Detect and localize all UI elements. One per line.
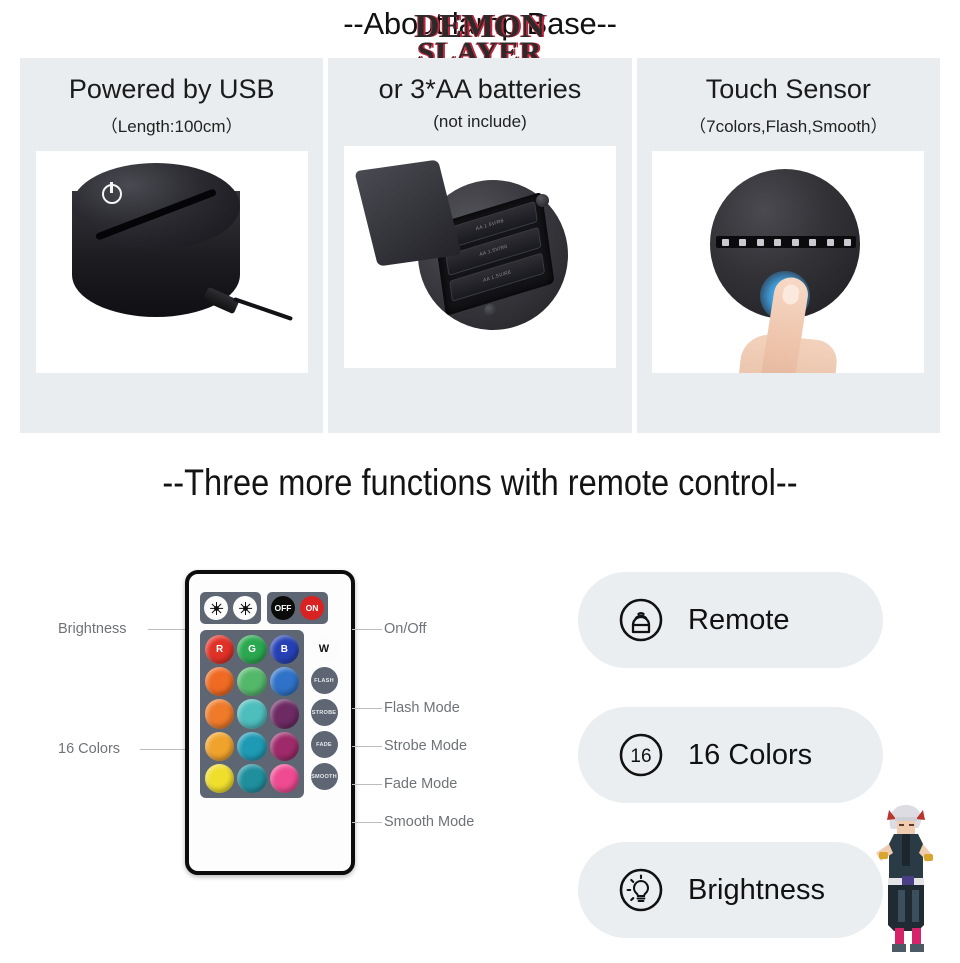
callout-on-off: On/Off [384, 621, 426, 637]
callout-flash-mode: Flash Mode [384, 700, 460, 716]
smooth-mode-button[interactable]: SMOOTH [311, 763, 338, 790]
power-button-group: OFF ON [267, 592, 328, 624]
feature-card-list: Remote 16 16 Colors Brightness [578, 572, 890, 942]
panel-touch-sensor: Touch Sensor （7colors,Flash,Smooth） [637, 58, 940, 433]
callout-leader-line [140, 749, 188, 750]
battery-compartment-photo: AA 1.5V/R6 AA 1.5V/R6 AA 1.5V/R6 [344, 146, 616, 368]
fade-mode-button[interactable]: FADE [311, 731, 338, 758]
color-button[interactable] [237, 667, 266, 696]
brightness-down-icon[interactable] [233, 596, 257, 620]
callout-leader-line [352, 746, 382, 747]
remote-signal-icon [618, 597, 664, 643]
callout-leader-line [352, 784, 382, 785]
led-icon [757, 239, 764, 246]
led-icon [722, 239, 729, 246]
feature-card-label: Remote [688, 604, 790, 637]
led-icon [844, 239, 851, 246]
led-icon [809, 239, 816, 246]
feature-card-brightness[interactable]: Brightness [578, 842, 883, 938]
color-button[interactable] [237, 764, 266, 793]
color-button[interactable] [270, 667, 299, 696]
color-button[interactable] [205, 667, 234, 696]
panel-subheading: （7colors,Flash,Smooth） [689, 112, 887, 137]
color-button[interactable] [205, 764, 234, 793]
panel-heading: Touch Sensor [706, 74, 871, 105]
color-button[interactable]: G [237, 635, 266, 664]
anime-character-watermark [858, 800, 954, 958]
color-button[interactable] [270, 699, 299, 728]
battery-lid [354, 160, 461, 267]
remote-control[interactable]: OFF ON R G B [185, 570, 355, 875]
brightness-up-icon[interactable] [204, 596, 228, 620]
strobe-mode-button[interactable]: STROBE [311, 699, 338, 726]
callout-leader-line [352, 708, 382, 709]
section-heading: --Three more functions with remote contr… [58, 462, 903, 504]
color-button-grid: R G B [200, 630, 304, 798]
sixteen-circle-icon: 16 [618, 732, 664, 778]
power-symbol-icon [102, 184, 122, 204]
callout-brightness: Brightness [58, 621, 127, 637]
panel-aa-batteries: or 3*AA batteries (not include) AA 1.5V/… [328, 58, 631, 433]
color-button[interactable] [237, 699, 266, 728]
color-button[interactable]: R [205, 635, 234, 664]
screw-icon [536, 194, 549, 207]
color-button[interactable] [205, 732, 234, 761]
remote-mode-column: W FLASH STROBE FADE SMOOTH [307, 630, 341, 798]
color-button[interactable]: B [270, 635, 299, 664]
touch-sensor-photo [652, 151, 924, 373]
led-icon [792, 239, 799, 246]
led-icon [774, 239, 781, 246]
color-button[interactable] [270, 732, 299, 761]
power-on-button[interactable]: ON [300, 596, 324, 620]
feature-card-label: 16 Colors [688, 739, 812, 772]
panel-subheading: (not include) [433, 112, 527, 132]
flash-mode-button[interactable]: FLASH [311, 667, 338, 694]
brightness-button-group [200, 592, 261, 624]
callout-leader-line [148, 629, 188, 630]
page-title: --About lamp Base-- [0, 6, 960, 42]
product-infographic: --About lamp Base-- DEMON SLAYER Powered… [0, 0, 960, 960]
color-button[interactable] [205, 699, 234, 728]
led-strip [716, 236, 856, 248]
callout-16-colors: 16 Colors [58, 741, 120, 757]
remote-top-row: OFF ON [200, 592, 340, 624]
feature-card-16-colors[interactable]: 16 16 Colors [578, 707, 883, 803]
feature-card-remote[interactable]: Remote [578, 572, 883, 668]
brightness-bulb-icon [618, 867, 664, 913]
usb-cable [233, 297, 293, 321]
feature-card-label: Brightness [688, 874, 825, 907]
color-button[interactable] [270, 764, 299, 793]
panel-powered-by-usb: Powered by USB （Length:100cm） [20, 58, 323, 433]
panel-heading: or 3*AA batteries [379, 74, 582, 105]
color-button[interactable] [237, 732, 266, 761]
feature-panel-row: Powered by USB （Length:100cm） or 3*AA ba… [20, 58, 940, 433]
lamp-base-usb-photo [36, 151, 308, 373]
led-icon [739, 239, 746, 246]
panel-subheading: （Length:100cm） [101, 112, 243, 137]
svg-text:16: 16 [630, 746, 651, 767]
callout-strobe-mode: Strobe Mode [384, 738, 467, 754]
remote-diagram: Brightness 16 Colors OFF ON [0, 545, 560, 915]
callout-fade-mode: Fade Mode [384, 776, 457, 792]
led-icon [827, 239, 834, 246]
screw-icon [484, 304, 497, 317]
callout-leader-line [352, 629, 382, 630]
callout-leader-line [352, 822, 382, 823]
power-off-button[interactable]: OFF [271, 596, 295, 620]
callout-smooth-mode: Smooth Mode [384, 814, 474, 830]
title-zone: --About lamp Base-- DEMON SLAYER [0, 0, 960, 58]
panel-heading: Powered by USB [69, 74, 275, 105]
white-button[interactable]: W [311, 635, 338, 662]
